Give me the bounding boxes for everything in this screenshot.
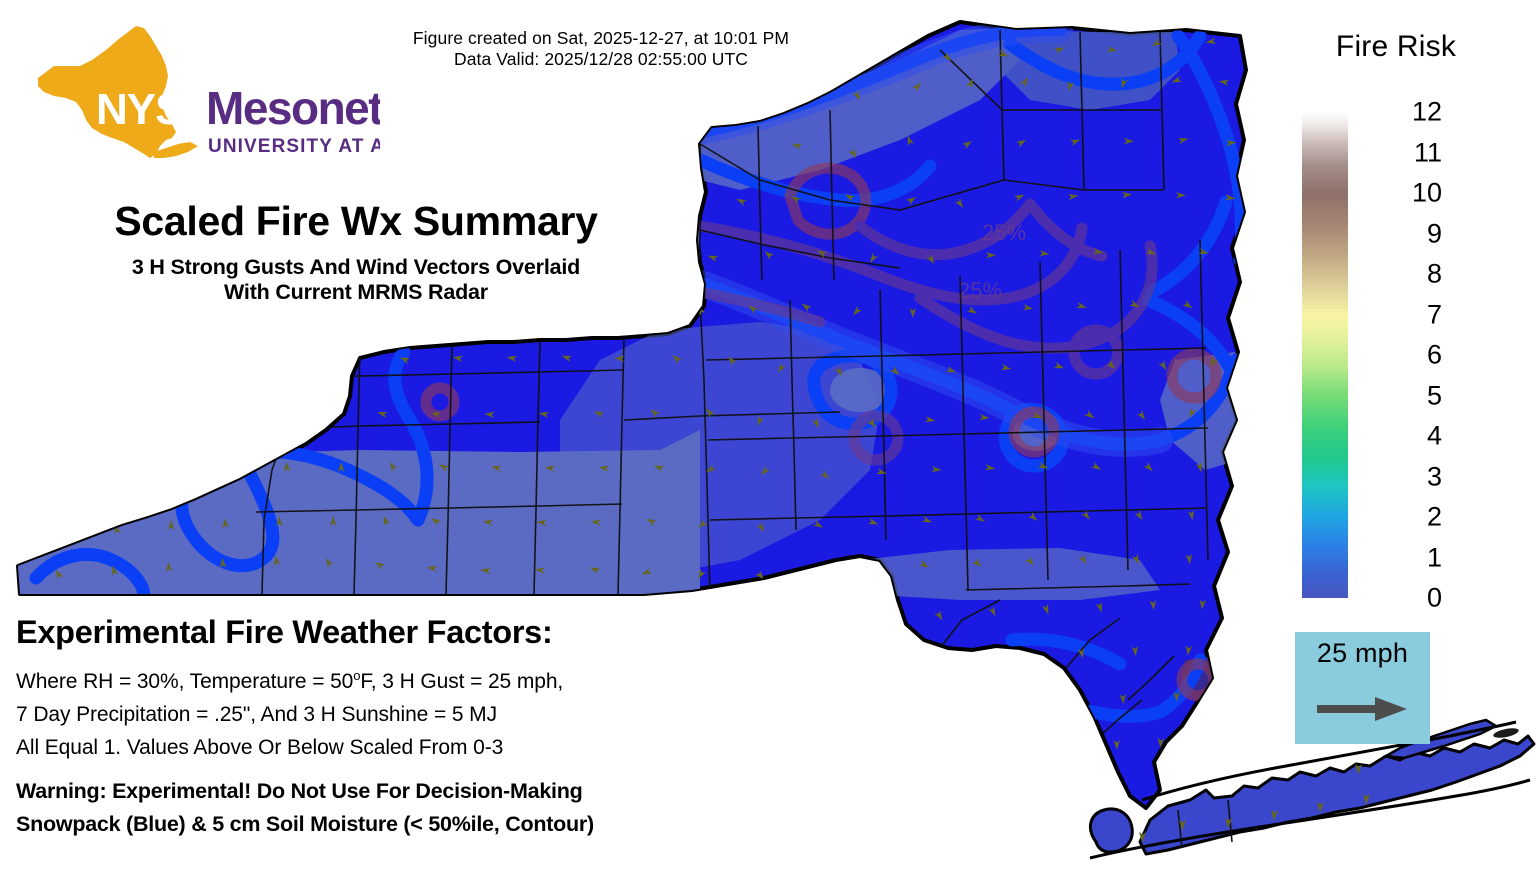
wind-speed-key: 25 mph xyxy=(1295,632,1430,744)
timestamp-block: Figure created on Sat, 2025-12-27, at 10… xyxy=(344,28,858,70)
subtitle-line-2: With Current MRMS Radar xyxy=(26,280,686,305)
colorbar-tick-11: 11 xyxy=(1414,139,1442,166)
warning-line-2: Snowpack (Blue) & 5 cm Soil Moisture (< … xyxy=(16,808,916,841)
colorbar-tick-2: 2 xyxy=(1427,504,1442,531)
footer-line-2: 7 Day Precipitation = .25", And 3 H Suns… xyxy=(16,698,916,731)
contour-label-25a: 25% xyxy=(982,220,1026,245)
wind-arrow-icon xyxy=(1313,694,1413,724)
page-title: Scaled Fire Wx Summary xyxy=(26,198,686,245)
figure-created-text: Figure created on Sat, 2025-12-27, at 10… xyxy=(344,28,858,49)
footer-line-1: Where RH = 30%, Temperature = 50oF, 3 H … xyxy=(16,665,916,698)
colorbar-tick-0: 0 xyxy=(1427,585,1442,612)
nys-mesonet-logo: NYS Mesonet UNIVERSITY AT ALBANY xyxy=(20,22,380,162)
page-subtitle: 3 H Strong Gusts And Wind Vectors Overla… xyxy=(26,255,686,305)
colorbar-tick-6: 6 xyxy=(1427,342,1442,369)
warning-line-1: Warning: Experimental! Do Not Use For De… xyxy=(16,775,916,808)
footer-line-1a: Where RH = 30%, Temperature = 50 xyxy=(16,670,353,693)
footer-line-3: All Equal 1. Values Above Or Below Scale… xyxy=(16,731,916,764)
footer-line-1b: F, 3 H Gust = 25 mph, xyxy=(360,670,563,693)
contour-label-25b: 25% xyxy=(958,278,1002,303)
logo-mesonet-text: Mesonet xyxy=(206,82,380,134)
subtitle-line-1: 3 H Strong Gusts And Wind Vectors Overla… xyxy=(26,255,686,280)
warning-block: Warning: Experimental! Do Not Use For De… xyxy=(16,775,916,841)
colorbar-tick-4: 4 xyxy=(1427,423,1442,450)
footer-notes: Experimental Fire Weather Factors: Where… xyxy=(16,614,916,841)
logo-nys-text: NYS xyxy=(96,85,183,134)
fire-risk-colorbar xyxy=(1302,112,1348,598)
colorbar-tick-labels: 1211109876543210 xyxy=(1408,112,1468,598)
colorbar-title: Fire Risk xyxy=(1296,30,1496,64)
colorbar-tick-1: 1 xyxy=(1427,544,1442,571)
wind-key-label: 25 mph xyxy=(1295,638,1430,669)
colorbar-tick-12: 12 xyxy=(1412,99,1442,126)
colorbar-tick-8: 8 xyxy=(1427,261,1442,288)
colorbar-tick-9: 9 xyxy=(1427,220,1442,247)
colorbar-tick-10: 10 xyxy=(1412,180,1442,207)
footer-heading: Experimental Fire Weather Factors: xyxy=(16,614,916,651)
data-valid-text: Data Valid: 2025/12/28 02:55:00 UTC xyxy=(344,49,858,70)
colorbar-tick-3: 3 xyxy=(1427,463,1442,490)
colorbar-tick-7: 7 xyxy=(1427,301,1442,328)
colorbar-tick-5: 5 xyxy=(1427,382,1442,409)
logo-university-text: UNIVERSITY AT ALBANY xyxy=(208,136,380,157)
